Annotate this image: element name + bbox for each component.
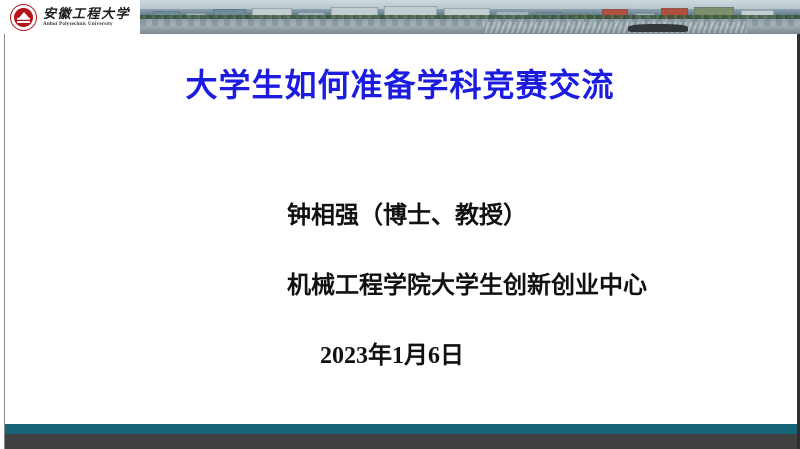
organization-line: 机械工程学院大学生创新创业中心 [287,274,757,298]
date-line: 2023年1月6日 [320,344,757,368]
university-seal-icon [10,4,37,31]
footer-accent-bar-dark [5,434,797,449]
panorama-plaza [483,22,747,33]
presenter-line: 钟相强（博士、教授） [287,204,757,228]
slide-header-band: 安徽工程大学 Anhui Polytechnic University [0,0,800,34]
presentation-slide: 安徽工程大学 Anhui Polytechnic University [0,0,800,449]
university-name-cn: 安徽工程大学 [43,7,130,20]
campus-panorama-image [140,0,800,34]
slide-body-block: 钟相强（博士、教授） 机械工程学院大学生创新创业中心 2023年1月6日 [287,204,757,368]
university-name-group: 安徽工程大学 Anhui Polytechnic University [43,7,130,27]
university-name-en: Anhui Polytechnic University [43,22,130,27]
university-logo-block: 安徽工程大学 Anhui Polytechnic University [0,0,140,34]
panorama-foreground-structure [628,24,687,32]
footer-accent-bar-teal [5,424,797,434]
slide-title: 大学生如何准备学科竞赛交流 [0,66,800,104]
seal-emblem-shape [14,8,33,27]
